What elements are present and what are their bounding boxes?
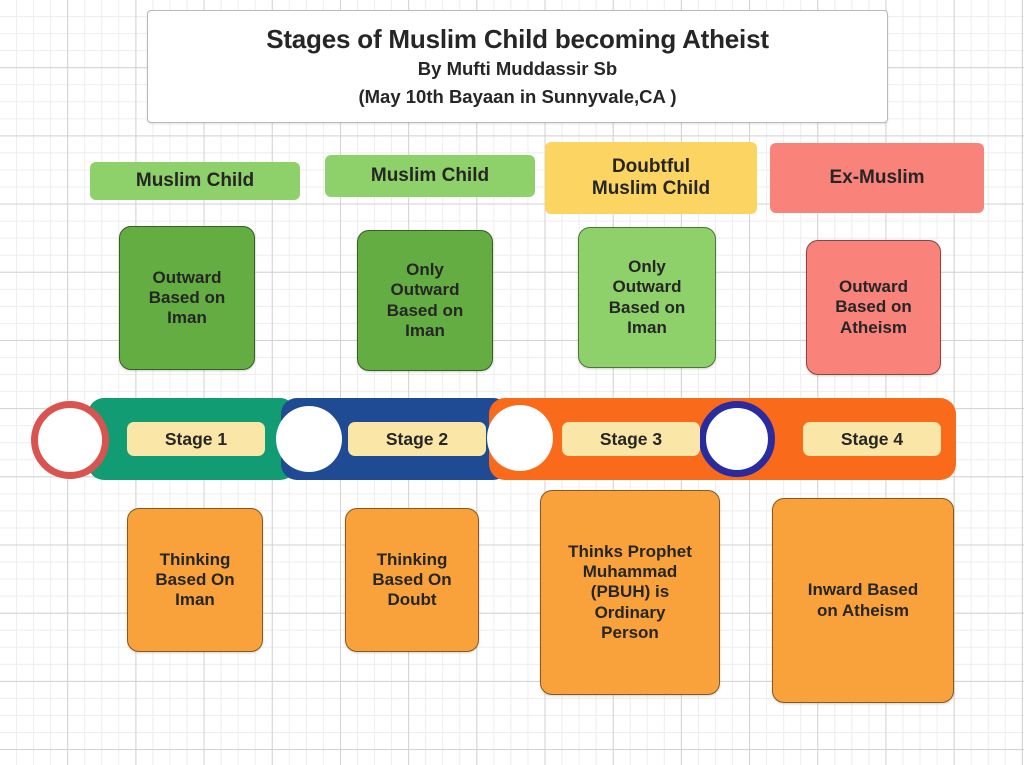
stage-4-label-text: Stage 4 xyxy=(841,429,903,450)
page-title: Stages of Muslim Child becoming Atheist xyxy=(266,23,769,56)
knob-start[interactable] xyxy=(31,401,109,479)
top-label-2: Muslim Child xyxy=(325,155,535,197)
thinking-card-4-text: Inward Basedon Atheism xyxy=(808,580,919,620)
knob-3-4[interactable] xyxy=(699,401,775,477)
outward-card-3-text: OnlyOutwardBased onIman xyxy=(609,257,686,337)
top-label-1: Muslim Child xyxy=(90,162,300,200)
thinking-card-2: ThinkingBased OnDoubt xyxy=(345,508,479,652)
title-event: (May 10th Bayaan in Sunnyvale,CA ) xyxy=(358,83,676,111)
outward-card-1-text: OutwardBased onIman xyxy=(149,268,226,328)
thinking-card-1: ThinkingBased OnIman xyxy=(127,508,263,652)
thinking-card-1-text: ThinkingBased OnIman xyxy=(155,550,234,610)
stage-4-label: Stage 4 xyxy=(803,422,941,456)
top-label-4-text: Ex-Muslim xyxy=(829,167,924,189)
stage-1-label-text: Stage 1 xyxy=(165,429,227,450)
outward-card-2: OnlyOutwardBased onIman xyxy=(357,230,493,371)
stage-3-label: Stage 3 xyxy=(562,422,700,456)
thinking-card-3: Thinks ProphetMuhammad(PBUH) isOrdinaryP… xyxy=(540,490,720,695)
top-label-2-text: Muslim Child xyxy=(371,165,489,187)
outward-card-4: OutwardBased onAtheism xyxy=(806,240,941,375)
diagram-canvas: Stages of Muslim Child becoming Atheist … xyxy=(0,0,1024,765)
top-label-3-text: DoubtfulMuslim Child xyxy=(592,156,710,201)
title-card: Stages of Muslim Child becoming Atheist … xyxy=(147,10,888,123)
outward-card-4-text: OutwardBased onAtheism xyxy=(835,277,912,337)
outward-card-1: OutwardBased onIman xyxy=(119,226,255,370)
title-author: By Mufti Muddassir Sb xyxy=(418,55,617,83)
stage-2-label: Stage 2 xyxy=(348,422,486,456)
knob-1-2[interactable] xyxy=(276,406,342,472)
stage-1-label: Stage 1 xyxy=(127,422,265,456)
stage-bar: Stage 1 Stage 2 Stage 3 Stage 4 xyxy=(0,392,1024,492)
thinking-card-3-text: Thinks ProphetMuhammad(PBUH) isOrdinaryP… xyxy=(568,542,692,642)
knob-2-3[interactable] xyxy=(487,405,553,471)
thinking-card-2-text: ThinkingBased OnDoubt xyxy=(372,550,451,610)
stage-3-label-text: Stage 3 xyxy=(600,429,662,450)
stage-2-label-text: Stage 2 xyxy=(386,429,448,450)
top-label-4: Ex-Muslim xyxy=(770,143,984,213)
outward-card-3: OnlyOutwardBased onIman xyxy=(578,227,716,368)
top-label-3: DoubtfulMuslim Child xyxy=(545,142,757,214)
thinking-card-4: Inward Basedon Atheism xyxy=(772,498,954,703)
top-label-1-text: Muslim Child xyxy=(136,170,254,192)
outward-card-2-text: OnlyOutwardBased onIman xyxy=(387,260,464,340)
